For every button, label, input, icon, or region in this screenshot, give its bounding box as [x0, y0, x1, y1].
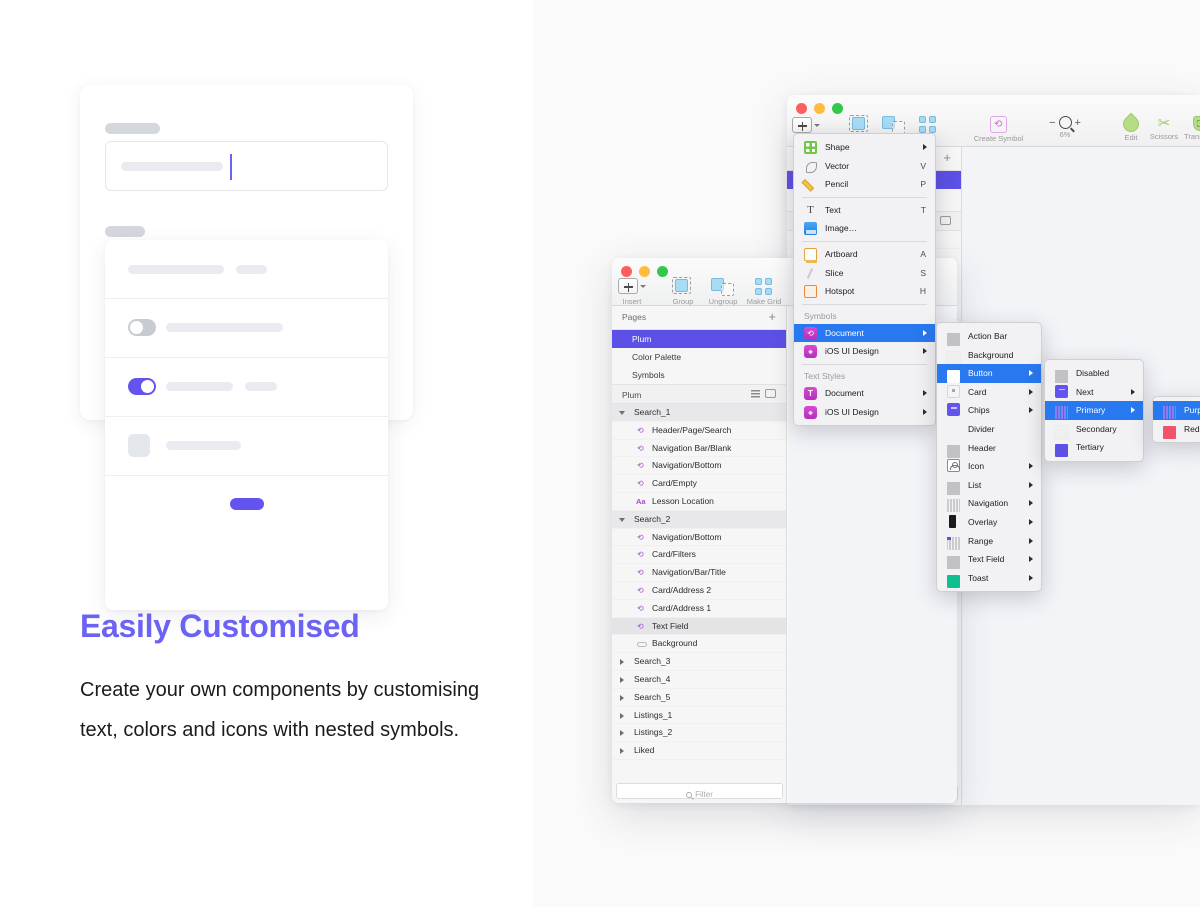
- placeholder-bar: [166, 441, 241, 450]
- inner-traffic-lights[interactable]: [621, 266, 668, 277]
- hotspot-icon: [804, 285, 817, 298]
- menu-item-image[interactable]: Image…: [794, 219, 935, 238]
- menu-item-list[interactable]: List: [937, 476, 1041, 495]
- chevron-right-icon[interactable]: [620, 713, 624, 719]
- swatch-dash-grey: [947, 499, 960, 512]
- menu-item-artboard[interactable]: ArtboardA: [794, 245, 935, 264]
- menu-item-label: Text: [825, 205, 841, 215]
- menu-item-pencil[interactable]: PencilP: [794, 175, 935, 194]
- swatch-dash-purple: [1163, 406, 1176, 419]
- zoom-level-label: 6%: [1042, 130, 1088, 139]
- text-layer-icon: Aa: [636, 497, 646, 507]
- chevron-right-icon[interactable]: [620, 695, 624, 701]
- layer-row[interactable]: ⟲Header/Page/Search: [612, 422, 786, 440]
- text-icon: T: [804, 204, 817, 217]
- menu-item-label: Vector: [825, 161, 849, 171]
- button-submenu[interactable]: DisabledNextPrimarySecondaryTertiary: [1044, 359, 1144, 462]
- menu-item-label: Button: [968, 368, 993, 378]
- artboard-icon: [804, 248, 817, 261]
- menu-item-hotspot[interactable]: HotspotH: [794, 282, 935, 301]
- zoom-in-icon[interactable]: +: [1075, 117, 1081, 129]
- chevron-right-icon[interactable]: [620, 659, 624, 665]
- swatch-thin-white: [1055, 426, 1068, 439]
- collapse-icon[interactable]: [765, 389, 776, 398]
- outer-insert-button[interactable]: [792, 117, 820, 133]
- menu-item-header[interactable]: Header: [937, 439, 1041, 458]
- outer-zoom-control[interactable]: − + 6%: [1042, 116, 1088, 139]
- menu-item-label: Icon: [968, 461, 984, 471]
- swatch-box-purple: [1055, 385, 1068, 398]
- menu-item-overlay[interactable]: Overlay: [937, 513, 1041, 532]
- menu-item-action-bar[interactable]: Action Bar: [937, 327, 1041, 346]
- textstyle-doc-icon: T: [804, 387, 817, 400]
- placeholder-label: [105, 123, 160, 134]
- layer-name: Header/Page/Search: [652, 422, 731, 440]
- layer-row[interactable]: Background: [612, 635, 786, 653]
- submenu-arrow-icon: [1029, 538, 1033, 544]
- menu-item-text-field[interactable]: Text Field: [937, 550, 1041, 569]
- minimize-button[interactable]: [639, 266, 650, 277]
- inner-layer-list[interactable]: Search_1⟲Header/Page/Search⟲Navigation B…: [612, 404, 786, 764]
- placeholder-label-2: [105, 226, 145, 237]
- menu-item-label: List: [968, 480, 981, 490]
- outer-transform-button[interactable]: Transform: [1181, 116, 1200, 141]
- layers-header-label: Plum: [622, 390, 641, 400]
- layer-name: Search_3: [634, 653, 670, 671]
- layer-row[interactable]: Search_5: [612, 689, 786, 707]
- menu-item-label: Pencil: [825, 179, 848, 189]
- swatch-thin-grey: [1055, 370, 1068, 383]
- menu-item-shortcut: T: [921, 201, 926, 220]
- layer-name: Navigation/Bottom: [652, 529, 721, 547]
- menu-item-label: Document: [825, 388, 864, 398]
- page-row-label: Symbols: [632, 370, 665, 380]
- menu-item-label: Disabled: [1076, 368, 1109, 378]
- swatch-thin-grey: [947, 482, 960, 495]
- menu-item-navigation[interactable]: Navigation: [937, 494, 1041, 513]
- transform-icon: [1193, 116, 1200, 131]
- submenu-arrow-icon: [1029, 519, 1033, 525]
- swatch-box-grey: [947, 385, 960, 398]
- menu-item-purple[interactable]: Purple: [1153, 401, 1200, 420]
- make-grid-label: Make Grid: [742, 297, 786, 306]
- mockup-front-card: [105, 240, 388, 610]
- layer-name: Search_2: [634, 511, 670, 529]
- placeholder-bar: [236, 265, 267, 274]
- image-icon: [804, 222, 817, 235]
- text-caret: [230, 154, 232, 180]
- submenu-arrow-icon: [923, 330, 927, 336]
- menu-item-label: Document: [825, 328, 864, 338]
- outer-ungroup-button[interactable]: [882, 116, 906, 134]
- menu-item-document[interactable]: ⟲Document: [794, 324, 935, 343]
- layer-row[interactable]: Search_2: [612, 511, 786, 529]
- submenu-arrow-icon: [923, 390, 927, 396]
- create-symbol-icon: ⟲: [990, 116, 1007, 133]
- layer-row[interactable]: ⟲Navigation/Bottom: [612, 529, 786, 547]
- submenu-arrow-icon: [923, 144, 927, 150]
- inner-ungroup-button[interactable]: Ungroup: [703, 278, 743, 306]
- menu-item-card[interactable]: Card: [937, 383, 1041, 402]
- mockup-row-thumbnail: [105, 417, 388, 476]
- slice-icon: [804, 267, 817, 280]
- submenu-arrow-icon: [1131, 389, 1135, 395]
- layer-row[interactable]: Liked: [612, 742, 786, 760]
- menu-item-ios-ui-design[interactable]: ◈iOS UI Design: [794, 342, 935, 361]
- menu-item-label: Header: [968, 443, 996, 453]
- vector-icon: [804, 160, 817, 173]
- add-page-icon[interactable]: +: [943, 151, 951, 165]
- menu-item-secondary[interactable]: Secondary: [1045, 420, 1143, 439]
- symbol-icon: ⟲: [637, 604, 644, 614]
- pages-header-label: Pages: [622, 312, 646, 322]
- menu-separator: [802, 364, 927, 365]
- layer-row[interactable]: ⟲Text Field: [612, 618, 786, 636]
- placeholder-input-text: [121, 162, 223, 171]
- mockup-row-header: [105, 240, 388, 299]
- layer-row[interactable]: Search_1: [612, 404, 786, 422]
- search-icon: [686, 792, 692, 798]
- menu-separator: [802, 304, 927, 305]
- menu-item-label: Toast: [968, 573, 988, 583]
- layer-name: Card/Empty: [652, 475, 697, 493]
- layer-name: Liked: [634, 742, 654, 760]
- submenu-arrow-icon: [1029, 575, 1033, 581]
- document-submenu[interactable]: Action BarBackgroundButtonCardChipsDivid…: [936, 322, 1042, 592]
- swatch-line-green: [947, 575, 960, 588]
- insert-menu[interactable]: ShapeVectorVPencilPTTextTImage…ArtboardA…: [793, 133, 936, 426]
- layer-row[interactable]: ⟲Card/Filters: [612, 546, 786, 564]
- menu-item-slice[interactable]: SliceS: [794, 264, 935, 283]
- page-row-symbols[interactable]: Symbols: [612, 366, 786, 384]
- plus-icon: [618, 278, 638, 294]
- mockup-text-input[interactable]: [105, 141, 388, 191]
- menu-item-label: Purple: [1184, 405, 1200, 415]
- layer-row[interactable]: ⟲Navigation Bar/Blank: [612, 440, 786, 458]
- layer-name: Text Field: [652, 618, 688, 636]
- menu-item-ios-ui-design[interactable]: ◈iOS UI Design: [794, 403, 935, 422]
- menu-item-divider[interactable]: Divider: [937, 420, 1041, 439]
- menu-item-button[interactable]: Button: [937, 364, 1041, 383]
- inner-insert-button[interactable]: Insert: [618, 278, 646, 306]
- inner-filter-placeholder: Filter: [695, 790, 713, 799]
- menu-item-document[interactable]: TDocument: [794, 384, 935, 403]
- inner-pages-header: Pages +: [612, 306, 786, 330]
- zoom-icon: − +: [1042, 116, 1088, 129]
- submenu-arrow-icon: [1029, 482, 1033, 488]
- maximize-button[interactable]: [657, 266, 668, 277]
- menu-item-shape[interactable]: Shape: [794, 138, 935, 157]
- menu-item-text[interactable]: TTextT: [794, 201, 935, 220]
- plus-icon: [792, 117, 812, 133]
- layer-row[interactable]: ⟲Card/Address 1: [612, 600, 786, 618]
- promo-mockup: [80, 85, 430, 535]
- menu-item-label: Action Bar: [968, 331, 1007, 341]
- symbol-icon: ⟲: [637, 568, 644, 578]
- menu-section-header: Symbols: [794, 308, 935, 324]
- menu-item-shortcut: H: [920, 282, 926, 301]
- menu-item-label: Shape: [825, 142, 850, 152]
- mockup-row-action: [105, 476, 388, 533]
- menu-item-chips[interactable]: Chips: [937, 401, 1041, 420]
- swatch-thin-white: [947, 352, 960, 365]
- menu-item-label: Background: [968, 350, 1013, 360]
- menu-item-label: Red: [1184, 424, 1200, 434]
- symbol-icon: ⟲: [637, 550, 644, 560]
- swatch-thin-grey: [947, 556, 960, 569]
- menu-item-label: Range: [968, 536, 993, 546]
- placeholder-bar: [245, 382, 277, 391]
- layer-row[interactable]: Listings_2: [612, 724, 786, 742]
- layer-row[interactable]: ⟲Card/Empty: [612, 475, 786, 493]
- layer-row[interactable]: AaLesson Location: [612, 493, 786, 511]
- placeholder-bar: [128, 265, 224, 274]
- layer-row[interactable]: Search_3: [612, 653, 786, 671]
- submenu-arrow-icon: [1029, 370, 1033, 376]
- menu-item-shortcut: A: [920, 245, 926, 264]
- scissors-icon: ✂: [1145, 116, 1183, 131]
- layer-name: Navigation/Bottom: [652, 457, 721, 475]
- make-grid-icon: [919, 116, 937, 134]
- ungroup-label: Ungroup: [703, 297, 743, 306]
- menu-item-label: Card: [968, 387, 986, 397]
- menu-item-label: Overlay: [968, 517, 997, 527]
- insert-label: Insert: [623, 297, 642, 306]
- outer-make-grid-button[interactable]: [919, 116, 937, 134]
- submenu-arrow-icon: [923, 409, 927, 415]
- toggle-off[interactable]: [128, 319, 156, 336]
- layer-row[interactable]: Listings_1: [612, 707, 786, 725]
- placeholder-bar: [166, 382, 233, 391]
- inner-page-list[interactable]: PlumColor PaletteSymbols: [612, 330, 786, 384]
- inner-layers-panel: Pages + PlumColor PaletteSymbols Plum Se…: [612, 306, 787, 803]
- layer-row[interactable]: ⟲Card/Address 2: [612, 582, 786, 600]
- symbol-icon: ⟲: [637, 586, 644, 596]
- placeholder-thumbnail: [128, 434, 150, 457]
- symbol-icon: ⟲: [637, 426, 644, 436]
- symbol-ios-icon: ◈: [804, 345, 817, 358]
- menu-item-label: Hotspot: [825, 286, 854, 296]
- submenu-arrow-icon: [1029, 463, 1033, 469]
- outer-create-symbol-button[interactable]: ⟲ Create Symbol: [971, 116, 1026, 143]
- page-description: Create your own components by customisin…: [80, 670, 480, 750]
- symbol-icon: ⟲: [637, 533, 644, 543]
- submenu-arrow-icon: [923, 348, 927, 354]
- ungroup-icon: [882, 116, 906, 134]
- menu-item-label: Image…: [825, 223, 857, 233]
- menu-item-disabled[interactable]: Disabled: [1045, 364, 1143, 383]
- menu-item-toast[interactable]: Toast: [937, 569, 1041, 588]
- menu-separator: [802, 197, 927, 198]
- submenu-arrow-icon: [1029, 556, 1033, 562]
- swatch-dots-purple: [947, 537, 960, 550]
- submenu-arrow-icon: [1131, 407, 1135, 413]
- page-title: Easily Customised: [80, 608, 359, 645]
- layer-row[interactable]: ⟲Navigation/Bar/Title: [612, 564, 786, 582]
- layer-name: Navigation Bar/Blank: [652, 440, 731, 458]
- pencil-icon: [804, 178, 817, 191]
- placeholder-bar: [166, 323, 283, 332]
- menu-item-label: Artboard: [825, 249, 858, 259]
- menu-item-label: Navigation: [968, 498, 1008, 508]
- collapse-icon[interactable]: [940, 216, 951, 225]
- layer-name: Card/Filters: [652, 546, 696, 564]
- chevron-down-icon: [814, 124, 820, 127]
- edit-icon: [1120, 113, 1143, 136]
- symbol-doc-icon: ⟲: [804, 327, 817, 340]
- menu-item-icon[interactable]: Icon: [937, 457, 1041, 476]
- menu-item-range[interactable]: Range: [937, 532, 1041, 551]
- layer-name: Background: [652, 635, 697, 653]
- symbol-icon: ⟲: [637, 461, 644, 471]
- inner-filter-input[interactable]: Filter: [616, 783, 783, 799]
- inner-layers-header: Plum: [612, 384, 786, 404]
- menu-item-shortcut: S: [920, 264, 926, 283]
- shape-icon: [804, 141, 817, 154]
- add-page-icon[interactable]: +: [768, 310, 776, 324]
- menu-item-label: Tertiary: [1076, 442, 1104, 452]
- menu-item-label: Divider: [968, 424, 994, 434]
- menu-item-label: Next: [1076, 387, 1093, 397]
- inner-group-button[interactable]: Group: [665, 278, 701, 306]
- textstyle-ios-icon: ◈: [804, 406, 817, 419]
- submenu-arrow-icon: [1029, 407, 1033, 413]
- swatch-dash-purple: [1055, 406, 1068, 419]
- outer-scissors-button[interactable]: ✂ Scissors: [1145, 116, 1183, 141]
- edit-label: Edit: [1116, 133, 1146, 142]
- zoom-out-icon[interactable]: −: [1049, 117, 1055, 129]
- layer-name: Navigation/Bar/Title: [652, 564, 726, 582]
- mockup-row-toggle-on[interactable]: [105, 358, 388, 417]
- mockup-primary-button[interactable]: [230, 498, 264, 510]
- swatch-line-purple: [1055, 444, 1068, 457]
- primary-submenu[interactable]: PurpleRed: [1152, 396, 1200, 443]
- menu-item-vector[interactable]: VectorV: [794, 157, 935, 176]
- swatch-person: [947, 459, 960, 472]
- menu-item-shortcut: V: [920, 157, 926, 176]
- menu-item-next[interactable]: Next: [1045, 383, 1143, 402]
- symbol-icon: ⟲: [637, 479, 644, 489]
- menu-item-label: Chips: [968, 405, 990, 415]
- layer-row[interactable]: ⟲Navigation/Bottom: [612, 457, 786, 475]
- menu-section-header: Text Styles: [794, 368, 935, 384]
- menu-separator: [802, 241, 927, 242]
- menu-item-label: Text Field: [968, 554, 1004, 564]
- toggle-on[interactable]: [128, 378, 156, 395]
- group-icon: [849, 116, 871, 134]
- layer-name: Search_1: [634, 404, 670, 422]
- menu-item-label: iOS UI Design: [825, 346, 879, 356]
- group-label: Group: [665, 297, 701, 306]
- layer-name: Search_4: [634, 671, 670, 689]
- layer-name: Card/Address 1: [652, 600, 711, 618]
- menu-item-background[interactable]: Background: [937, 346, 1041, 365]
- inner-make-grid-button[interactable]: Make Grid: [742, 278, 786, 306]
- scissors-label: Scissors: [1145, 132, 1183, 141]
- submenu-arrow-icon: [1029, 500, 1033, 506]
- swatch-box-black: [949, 515, 956, 528]
- list-view-icon[interactable]: [751, 390, 760, 398]
- menu-item-label: Primary: [1076, 405, 1105, 415]
- menu-item-tertiary[interactable]: Tertiary: [1045, 438, 1143, 457]
- swatch-box-purple: [947, 403, 960, 416]
- page-row-label: Color Palette: [632, 352, 681, 362]
- submenu-arrow-icon: [1029, 389, 1033, 395]
- layer-name: Search_5: [634, 689, 670, 707]
- layer-name: Listings_1: [634, 707, 672, 725]
- symbol-icon: ⟲: [637, 622, 644, 632]
- menu-item-label: iOS UI Design: [825, 407, 879, 417]
- swatch-line-red: [1163, 426, 1176, 439]
- menu-item-primary[interactable]: Primary: [1045, 401, 1143, 420]
- chevron-right-icon[interactable]: [620, 730, 624, 736]
- chevron-down-icon[interactable]: [619, 518, 625, 522]
- menu-item-red[interactable]: Red: [1153, 420, 1200, 439]
- outer-group-button[interactable]: [849, 116, 871, 134]
- layer-name: Lesson Location: [652, 493, 714, 511]
- close-button[interactable]: [621, 266, 632, 277]
- layer-name: Listings_2: [634, 724, 672, 742]
- transform-label: Transform: [1181, 132, 1200, 141]
- page-row-label: Plum: [632, 334, 651, 344]
- menu-item-label: Slice: [825, 268, 843, 278]
- chevron-right-icon[interactable]: [620, 677, 624, 683]
- menu-item-shortcut: P: [920, 175, 926, 194]
- mockup-row-toggle-off[interactable]: [105, 299, 388, 358]
- chevron-down-icon: [640, 285, 646, 288]
- menu-item-label: Secondary: [1076, 424, 1117, 434]
- ungroup-icon: [711, 278, 735, 296]
- layer-name: Card/Address 2: [652, 582, 711, 600]
- rectangle-icon: [637, 642, 647, 647]
- outer-edit-button[interactable]: Edit: [1116, 116, 1146, 142]
- make-grid-icon: [755, 278, 773, 296]
- chevron-right-icon[interactable]: [620, 748, 624, 754]
- create-symbol-label: Create Symbol: [971, 134, 1026, 143]
- layer-row[interactable]: Search_4: [612, 671, 786, 689]
- swatch-thin-grey: [947, 445, 960, 458]
- symbol-icon: ⟲: [637, 444, 644, 454]
- swatch-line-white: [947, 370, 960, 383]
- group-icon: [672, 278, 694, 296]
- page-row-color-palette[interactable]: Color Palette: [612, 348, 786, 366]
- chevron-down-icon[interactable]: [619, 411, 625, 415]
- swatch-thin-grey: [947, 333, 960, 346]
- page-row-plum[interactable]: Plum: [612, 330, 786, 348]
